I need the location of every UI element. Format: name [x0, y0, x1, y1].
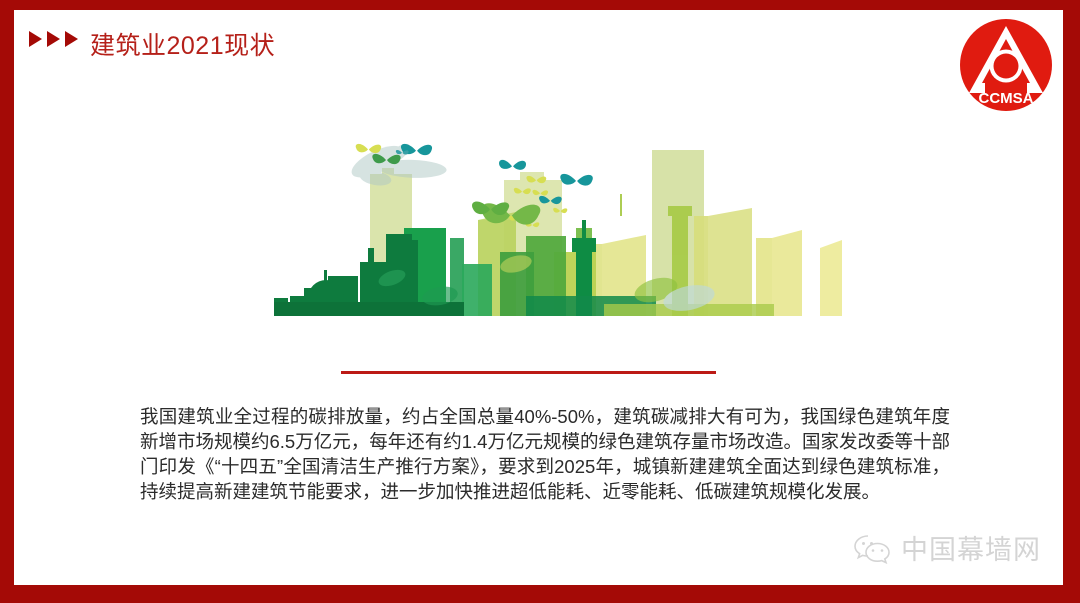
page-title: 建筑业2021现状 [90, 26, 275, 62]
watermark-text: 中国幕墙网 [901, 528, 1041, 567]
ccmsa-logo: CCMSA [958, 17, 1054, 113]
slide-header: 建筑业2021现状 [14, 10, 1063, 70]
slide-page: 建筑业2021现状 CCMSA [14, 10, 1063, 585]
body-paragraph: 我国建筑业全过程的碳排放量，约占全国总量40%-50%，建筑碳减排大有可为，我国… [140, 404, 950, 504]
triangle-right-icon [65, 31, 78, 47]
triangle-right-icon [29, 31, 42, 47]
red-divider [341, 371, 716, 374]
triangle-right-icon [47, 31, 60, 47]
header-arrow-group [29, 31, 78, 47]
ccmsa-logo-text: CCMSA [979, 90, 1034, 107]
watermark: 中国幕墙网 [853, 528, 1041, 567]
wechat-icon [853, 532, 893, 564]
green-city-skyline [264, 120, 864, 335]
slide-root: 建筑业2021现状 CCMSA [0, 0, 1080, 603]
